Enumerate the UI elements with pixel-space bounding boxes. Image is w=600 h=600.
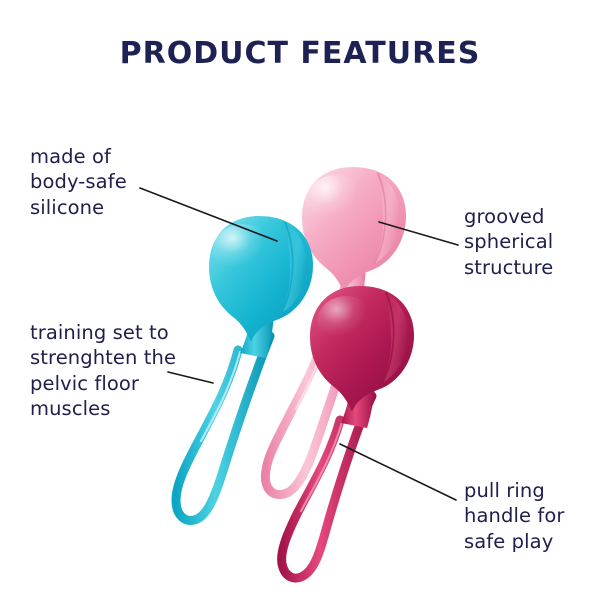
callout-line: pelvic floor xyxy=(30,371,220,396)
callout-label-training: training set to strenghten the pelvic fl… xyxy=(30,320,220,421)
callout-line: spherical xyxy=(464,229,594,254)
callout-line: muscles xyxy=(30,396,220,421)
crimson-kegel-ball xyxy=(282,286,414,578)
callout-line: structure xyxy=(464,255,594,280)
callout-line: handle for xyxy=(464,503,594,528)
callout-line: safe play xyxy=(464,529,594,554)
crimson-highlight xyxy=(317,296,375,348)
product-features-infographic: PRODUCT FEATURES xyxy=(0,0,600,600)
callout-line: body-safe xyxy=(30,169,200,194)
callout-line: training set to xyxy=(30,320,220,345)
callout-label-grooved: grooved spherical structure xyxy=(464,204,594,280)
callout-line: silicone xyxy=(30,195,200,220)
callout-label-pullring: pull ring handle for safe play xyxy=(464,478,594,554)
teal-highlight xyxy=(213,224,273,278)
callout-line: made of xyxy=(30,144,200,169)
callout-label-silicone: made of body-safe silicone xyxy=(30,144,200,220)
callout-line: pull ring xyxy=(464,478,594,503)
pink-highlight xyxy=(306,175,366,229)
callout-line: grooved xyxy=(464,204,594,229)
callout-line: strenghten the xyxy=(30,345,220,370)
leader-line-pullring xyxy=(340,444,456,500)
